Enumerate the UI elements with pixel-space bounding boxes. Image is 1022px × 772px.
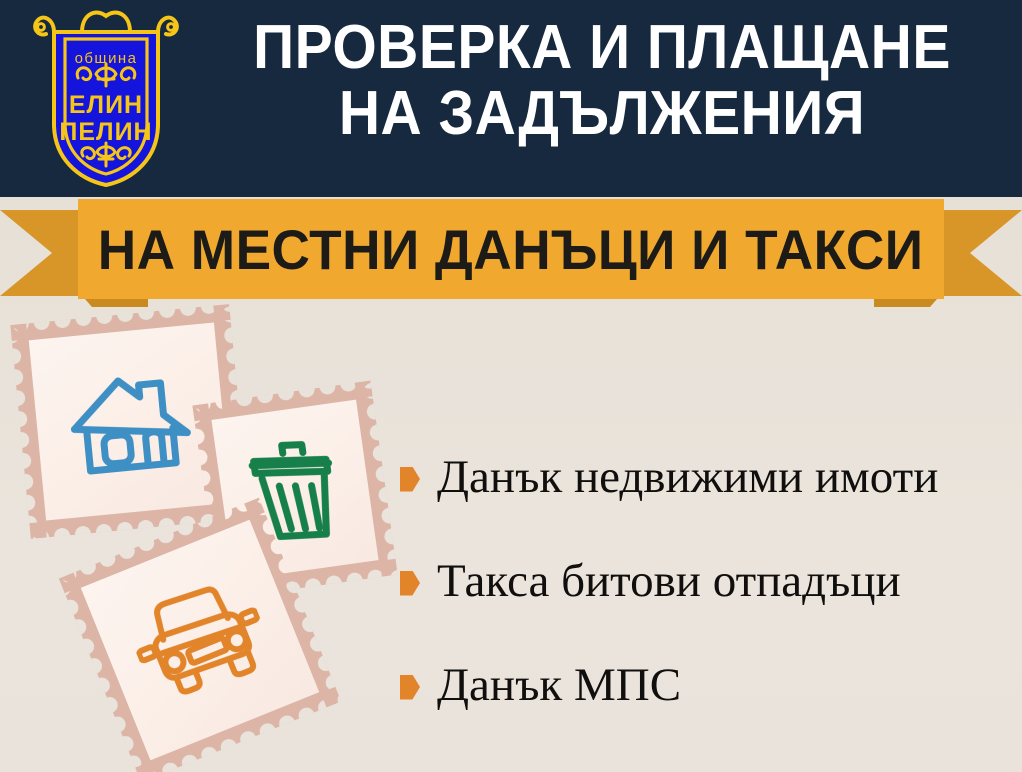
ribbon-body: НА МЕСТНИ ДАНЪЦИ И ТАКСИ: [78, 199, 944, 299]
car-front-icon: [121, 568, 279, 712]
subtitle-ribbon: НА МЕСТНИ ДАНЪЦИ И ТАКСИ: [0, 197, 1022, 309]
stamp-card-group: [0, 300, 420, 772]
list-item-label: Такса битови отпадъци: [437, 558, 901, 605]
page-title-line-2: НА ЗАДЪЛЖЕНИЯ: [228, 84, 975, 144]
list-item[interactable]: Данък МПС: [400, 633, 1020, 737]
page-title-line-1: ПРОВЕРКА И ПЛАЩАНЕ: [228, 18, 975, 78]
bullet-arrow-icon: [400, 571, 420, 596]
header-banner: община ЕЛИН ПЕЛИН ПРОВЕРКА И ПЛАЩАНЕ НА …: [0, 0, 1022, 197]
ribbon-label: НА МЕСТНИ ДАНЪЦИ И ТАКСИ: [98, 217, 924, 282]
list-item[interactable]: Данък недвижими имоти: [400, 425, 1020, 529]
house-icon: [61, 360, 199, 484]
municipality-logo: община ЕЛИН ПЕЛИН: [26, 6, 186, 191]
list-item-label: Данък МПС: [437, 662, 681, 709]
page-title: ПРОВЕРКА И ПЛАЩАНЕ НА ЗАДЪЛЖЕНИЯ: [196, 18, 1008, 143]
coat-of-arms-icon: община ЕЛИН ПЕЛИН: [26, 6, 186, 191]
list-item-label: Данък недвижими имоти: [437, 454, 938, 501]
tax-types-list: Данък недвижими имоти Такса битови отпад…: [400, 425, 1020, 737]
bullet-arrow-icon: [400, 675, 420, 700]
svg-text:ЕЛИН: ЕЛИН: [69, 91, 143, 119]
list-item[interactable]: Такса битови отпадъци: [400, 529, 1020, 633]
bullet-arrow-icon: [400, 467, 420, 492]
